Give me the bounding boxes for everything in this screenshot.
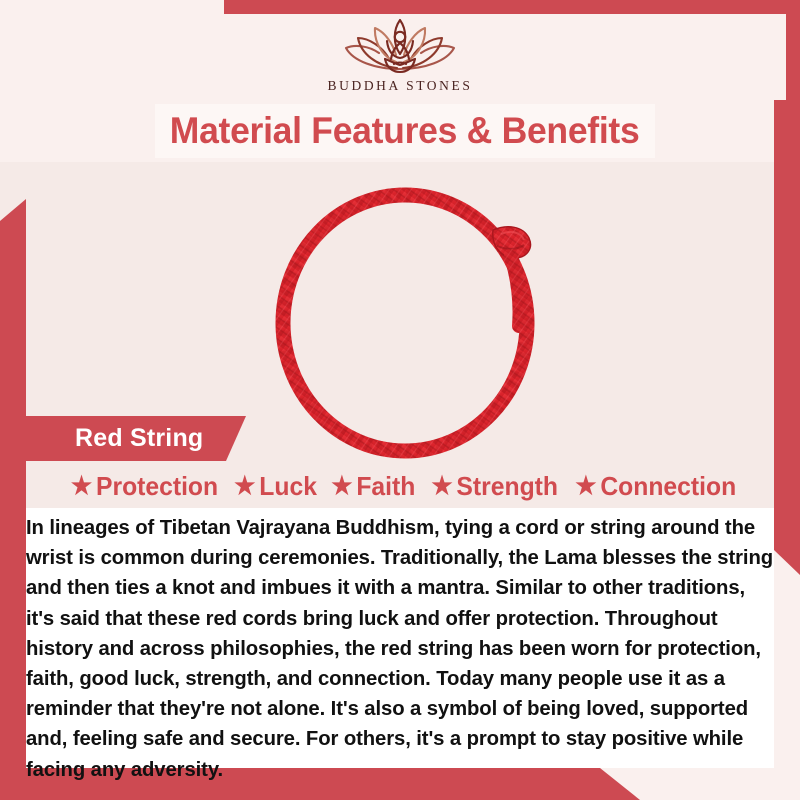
brand-logo: BUDDHA STONES xyxy=(0,14,800,104)
material-label-banner: Red String xyxy=(26,416,246,461)
feature-label: Strength xyxy=(456,471,558,502)
feature-label: Luck xyxy=(260,471,318,502)
feature-item-faith: ★ Faith xyxy=(327,471,421,502)
feature-item-protection: ★ Protection xyxy=(66,471,223,502)
decor-band-top xyxy=(224,0,800,14)
lotus-meditation-icon xyxy=(325,14,475,76)
star-icon: ★ xyxy=(576,474,597,499)
feature-item-luck: ★ Luck xyxy=(230,471,322,502)
red-braided-string-bracelet-icon xyxy=(245,168,575,468)
infographic-page: BUDDHA STONES Material Features & Benefi… xyxy=(0,0,800,800)
description-text: In lineages of Tibetan Vajrayana Buddhis… xyxy=(26,513,774,785)
product-image xyxy=(245,168,575,468)
feature-list: ★ Protection ★ Luck ★ Faith ★ Strength ★… xyxy=(26,466,782,506)
page-title: Material Features & Benefits xyxy=(170,110,640,152)
decor-band-left xyxy=(0,199,26,800)
star-icon: ★ xyxy=(332,474,353,499)
feature-label: Connection xyxy=(601,471,737,502)
star-icon: ★ xyxy=(234,474,255,499)
feature-item-strength: ★ Strength xyxy=(427,471,563,502)
feature-label: Protection xyxy=(96,471,218,502)
feature-label: Faith xyxy=(357,471,416,502)
material-label: Red String xyxy=(75,424,203,453)
star-icon: ★ xyxy=(431,474,452,499)
feature-item-connection: ★ Connection xyxy=(571,471,741,502)
brand-name: BUDDHA STONES xyxy=(328,78,473,94)
description-panel: In lineages of Tibetan Vajrayana Buddhis… xyxy=(26,508,774,768)
page-title-plate: Material Features & Benefits xyxy=(155,104,655,158)
star-icon: ★ xyxy=(71,474,92,499)
